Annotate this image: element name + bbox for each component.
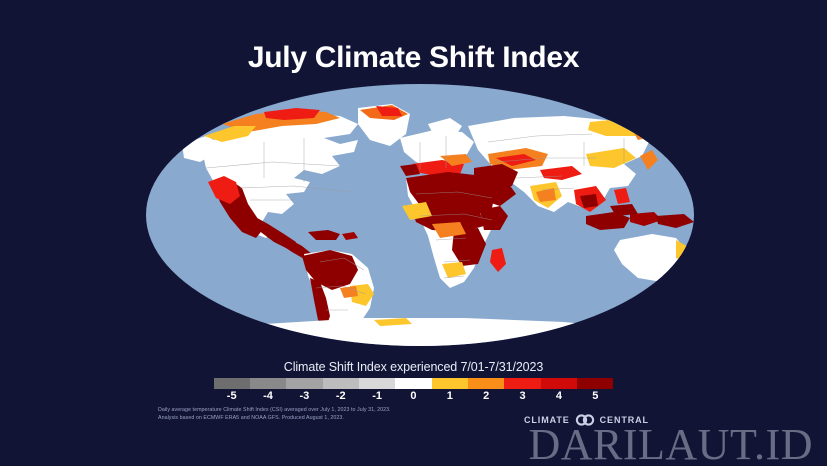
colorbar-swatch xyxy=(395,378,431,389)
colorbar-swatch xyxy=(468,378,504,389)
colorbar-swatch xyxy=(504,378,540,389)
colorbar-tick: -4 xyxy=(250,390,286,402)
landmass-antarctica xyxy=(184,318,684,348)
footnote-line-1: Daily average temperature Climate Shift … xyxy=(158,407,391,415)
world-map xyxy=(144,82,696,348)
landmass-new-zealand xyxy=(692,274,696,292)
colorbar xyxy=(214,378,614,389)
footnote: Daily average temperature Climate Shift … xyxy=(158,407,391,422)
legend-caption: Climate Shift Index experienced 7/01-7/3… xyxy=(0,360,827,374)
colorbar-tick: 0 xyxy=(395,390,431,402)
colorbar-swatch xyxy=(432,378,468,389)
colorbar-tick: 1 xyxy=(432,390,468,402)
footnote-line-2: Analysis based on ECMWF ERA5 and NOAA GF… xyxy=(158,415,391,423)
colorbar-tick: 4 xyxy=(541,390,577,402)
watermark: DARILAUT.ID xyxy=(528,419,813,466)
colorbar-tick: -2 xyxy=(323,390,359,402)
colorbar-tick: -1 xyxy=(359,390,395,402)
colorbar-swatch xyxy=(359,378,395,389)
world-map-svg xyxy=(144,82,696,348)
colorbar-swatch xyxy=(286,378,322,389)
colorbar-swatch xyxy=(323,378,359,389)
region-new-zealand-hot xyxy=(690,270,696,280)
colorbar-swatch xyxy=(541,378,577,389)
colorbar-tick: 3 xyxy=(504,390,540,402)
page-title: July Climate Shift Index xyxy=(0,41,827,75)
colorbar-swatch xyxy=(214,378,250,389)
colorbar-swatch xyxy=(250,378,286,389)
colorbar-tick-labels: -5-4-3-2-1012345 xyxy=(214,390,614,402)
colorbar-tick: 5 xyxy=(577,390,613,402)
colorbar-tick: -3 xyxy=(286,390,322,402)
colorbar-swatch xyxy=(577,378,613,389)
colorbar-tick: -5 xyxy=(214,390,250,402)
legend: Climate Shift Index experienced 7/01-7/3… xyxy=(0,360,827,402)
climate-shift-index-infographic: July Climate Shift Index xyxy=(0,0,827,466)
colorbar-tick: 2 xyxy=(468,390,504,402)
